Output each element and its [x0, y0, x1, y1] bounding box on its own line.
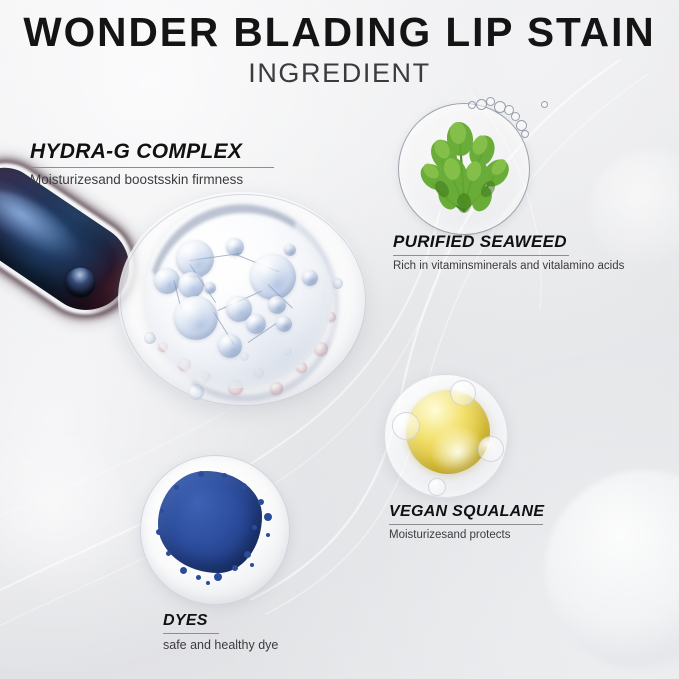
label-underline [163, 633, 219, 634]
molecule-node [174, 296, 218, 340]
ingredient-label-dyes: DYES safe and healthy dye [163, 612, 278, 652]
bubble [428, 478, 446, 496]
molecule-node [246, 314, 266, 334]
ingredient-infographic: WONDER BLADING LIP STAIN INGREDIENT [0, 0, 679, 679]
page-subtitle: INGREDIENT [0, 58, 679, 88]
label-underline [389, 524, 543, 525]
seaweed-circle-visual [398, 103, 530, 235]
ingredient-name: PURIFIED SEAWEED [393, 232, 567, 252]
seaweed-frond-icon [398, 103, 530, 235]
ingredient-name: VEGAN SQUALANE [389, 503, 544, 521]
ingredient-label-hydra-g-complex: HYDRA-G COMPLEX Moisturizesand boostsski… [30, 140, 274, 187]
powder-speck [258, 499, 264, 505]
powder-speck [160, 509, 164, 513]
powder-speck [166, 551, 171, 556]
label-underline [393, 255, 569, 256]
powder-speck [264, 513, 272, 521]
molecule-node [276, 316, 292, 332]
molecule-node [284, 244, 296, 256]
ingredient-label-purified-seaweed: PURIFIED SEAWEED Rich in vitaminsmineral… [393, 232, 624, 272]
powder-speck [250, 563, 254, 567]
powder-speck [252, 525, 257, 530]
label-underline [30, 167, 274, 168]
powder-speck [240, 483, 247, 490]
powder-speck [174, 485, 179, 490]
ingredient-description: Rich in vitaminsminerals and vitalamino … [393, 260, 624, 272]
ingredient-description: Moisturizesand boostsskin firmness [30, 172, 274, 187]
powder-speck [222, 473, 227, 478]
dyes-dish-visual [140, 455, 290, 605]
molecule-node [302, 270, 318, 286]
powder-speck [196, 575, 201, 580]
powder-speck [156, 529, 162, 535]
molecule-node [178, 272, 204, 298]
squalane-circle-visual [384, 374, 508, 498]
powder-speck [266, 533, 270, 537]
ingredient-description: Moisturizesand protects [389, 529, 544, 541]
molecule-node [268, 296, 286, 314]
bubble [521, 130, 529, 138]
molecule-node [154, 268, 180, 294]
bubble [468, 101, 476, 109]
powder-speck [206, 581, 210, 585]
water-dish-visual [118, 192, 366, 406]
ingredient-name: HYDRA-G COMPLEX [30, 140, 242, 164]
bubble [478, 436, 504, 462]
background-bokeh-circle [545, 470, 679, 670]
powder-speck [214, 573, 222, 581]
molecule-node [226, 238, 244, 256]
ingredient-label-vegan-squalane: VEGAN SQUALANE Moisturizesand protects [389, 503, 544, 541]
ingredient-name: DYES [163, 612, 208, 630]
powder-speck [198, 471, 204, 477]
molecule-node [218, 334, 242, 358]
page-title: WONDER BLADING LIP STAIN [3, 10, 675, 54]
molecule-node [204, 282, 216, 294]
powder-speck [180, 567, 187, 574]
bubble [541, 101, 548, 108]
background-bokeh-circle [0, 430, 130, 600]
molecule-node [250, 254, 296, 300]
powder-speck [244, 551, 251, 558]
bubble [450, 380, 476, 406]
powder-speck [232, 565, 238, 571]
bubble [392, 412, 420, 440]
ingredient-description: safe and healthy dye [163, 638, 278, 652]
